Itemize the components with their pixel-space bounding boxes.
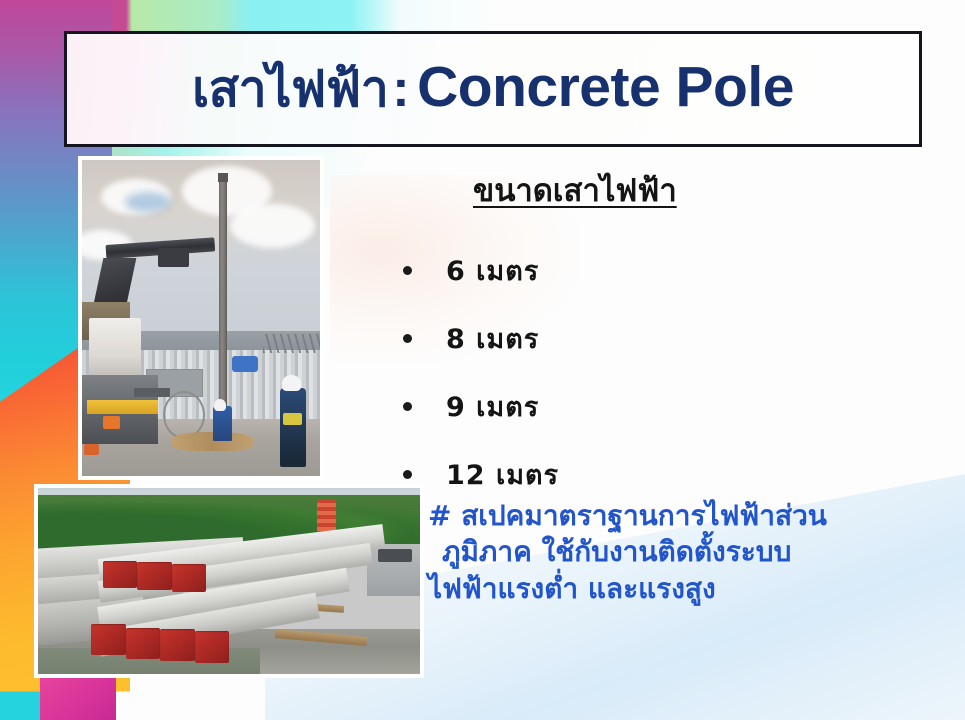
cloud-shape — [230, 204, 315, 248]
parked-vehicle — [378, 549, 412, 562]
yellow-outrigger-beam — [87, 400, 158, 414]
pole-cap — [218, 173, 228, 182]
crane-boom-joint — [158, 248, 189, 267]
list-item-label: 6 เมตร — [446, 249, 539, 292]
blue-tarp — [232, 356, 258, 372]
truck-marker-lamp — [103, 416, 120, 429]
razor-wire — [263, 334, 320, 353]
title-english: Concrete Pole — [417, 55, 794, 119]
title-separator: : — [388, 60, 417, 118]
safety-helmet — [282, 375, 301, 391]
magenta-corner-block — [40, 672, 116, 720]
spec-note: # สเปคมาตราฐานการไฟฟ้าส่วน ภูมิภาค ใช้กั… — [428, 498, 948, 607]
list-item: 9 เมตร — [392, 372, 952, 440]
photo-stacked-concrete-poles — [34, 484, 424, 678]
bullet-dot-icon — [403, 266, 412, 275]
spec-note-line-2: ภูมิภาค ใช้กับงานติดตั้งระบบ — [428, 534, 948, 570]
pole-red-painted-end — [126, 628, 160, 660]
truck-marker-lamp — [84, 444, 98, 455]
blue-sky-patch — [125, 192, 171, 212]
outrigger-support — [134, 388, 170, 397]
list-item-label: 9 เมตร — [446, 385, 539, 428]
safety-helmet — [214, 399, 226, 412]
title-thai: เสาไฟฟ้า — [192, 60, 388, 118]
worker-standing — [280, 388, 306, 467]
pole-red-painted-end — [137, 562, 171, 590]
slide-canvas: เสาไฟฟ้า:Concrete Pole — [0, 0, 965, 720]
pole-red-painted-end — [103, 561, 137, 589]
spec-note-line-1: # สเปคมาตราฐานการไฟฟ้าส่วน — [428, 498, 948, 534]
bullet-dot-icon — [403, 334, 412, 343]
list-item: 8 เมตร — [392, 304, 952, 372]
pole-red-painted-end — [195, 631, 229, 663]
pole-red-painted-end — [91, 624, 125, 656]
bullet-dot-icon — [403, 470, 412, 479]
pole-red-painted-end — [172, 564, 206, 592]
subheading-pole-sizes: ขนาดเสาไฟฟ้า — [473, 165, 677, 215]
spec-note-line-3: ไฟฟ้าแรงต่ำ และแรงสูง — [428, 571, 948, 607]
list-item-label: 12 เมตร — [446, 453, 559, 496]
truck-cabin — [89, 318, 141, 381]
title-box: เสาไฟฟ้า:Concrete Pole — [64, 31, 922, 147]
worker-crouching — [213, 406, 232, 441]
photo-crane-installing-concrete-pole — [78, 156, 324, 480]
worker-tool-belt — [283, 413, 302, 426]
list-item: 6 เมตร — [392, 236, 952, 304]
concrete-pole-upright — [219, 176, 227, 429]
pole-red-painted-end — [160, 629, 194, 661]
page-title: เสาไฟฟ้า:Concrete Pole — [192, 59, 794, 116]
pole-size-list: 6 เมตร 8 เมตร 9 เมตร 12 เมตร — [392, 236, 952, 508]
list-item-label: 8 เมตร — [446, 317, 539, 360]
bullet-dot-icon — [403, 402, 412, 411]
